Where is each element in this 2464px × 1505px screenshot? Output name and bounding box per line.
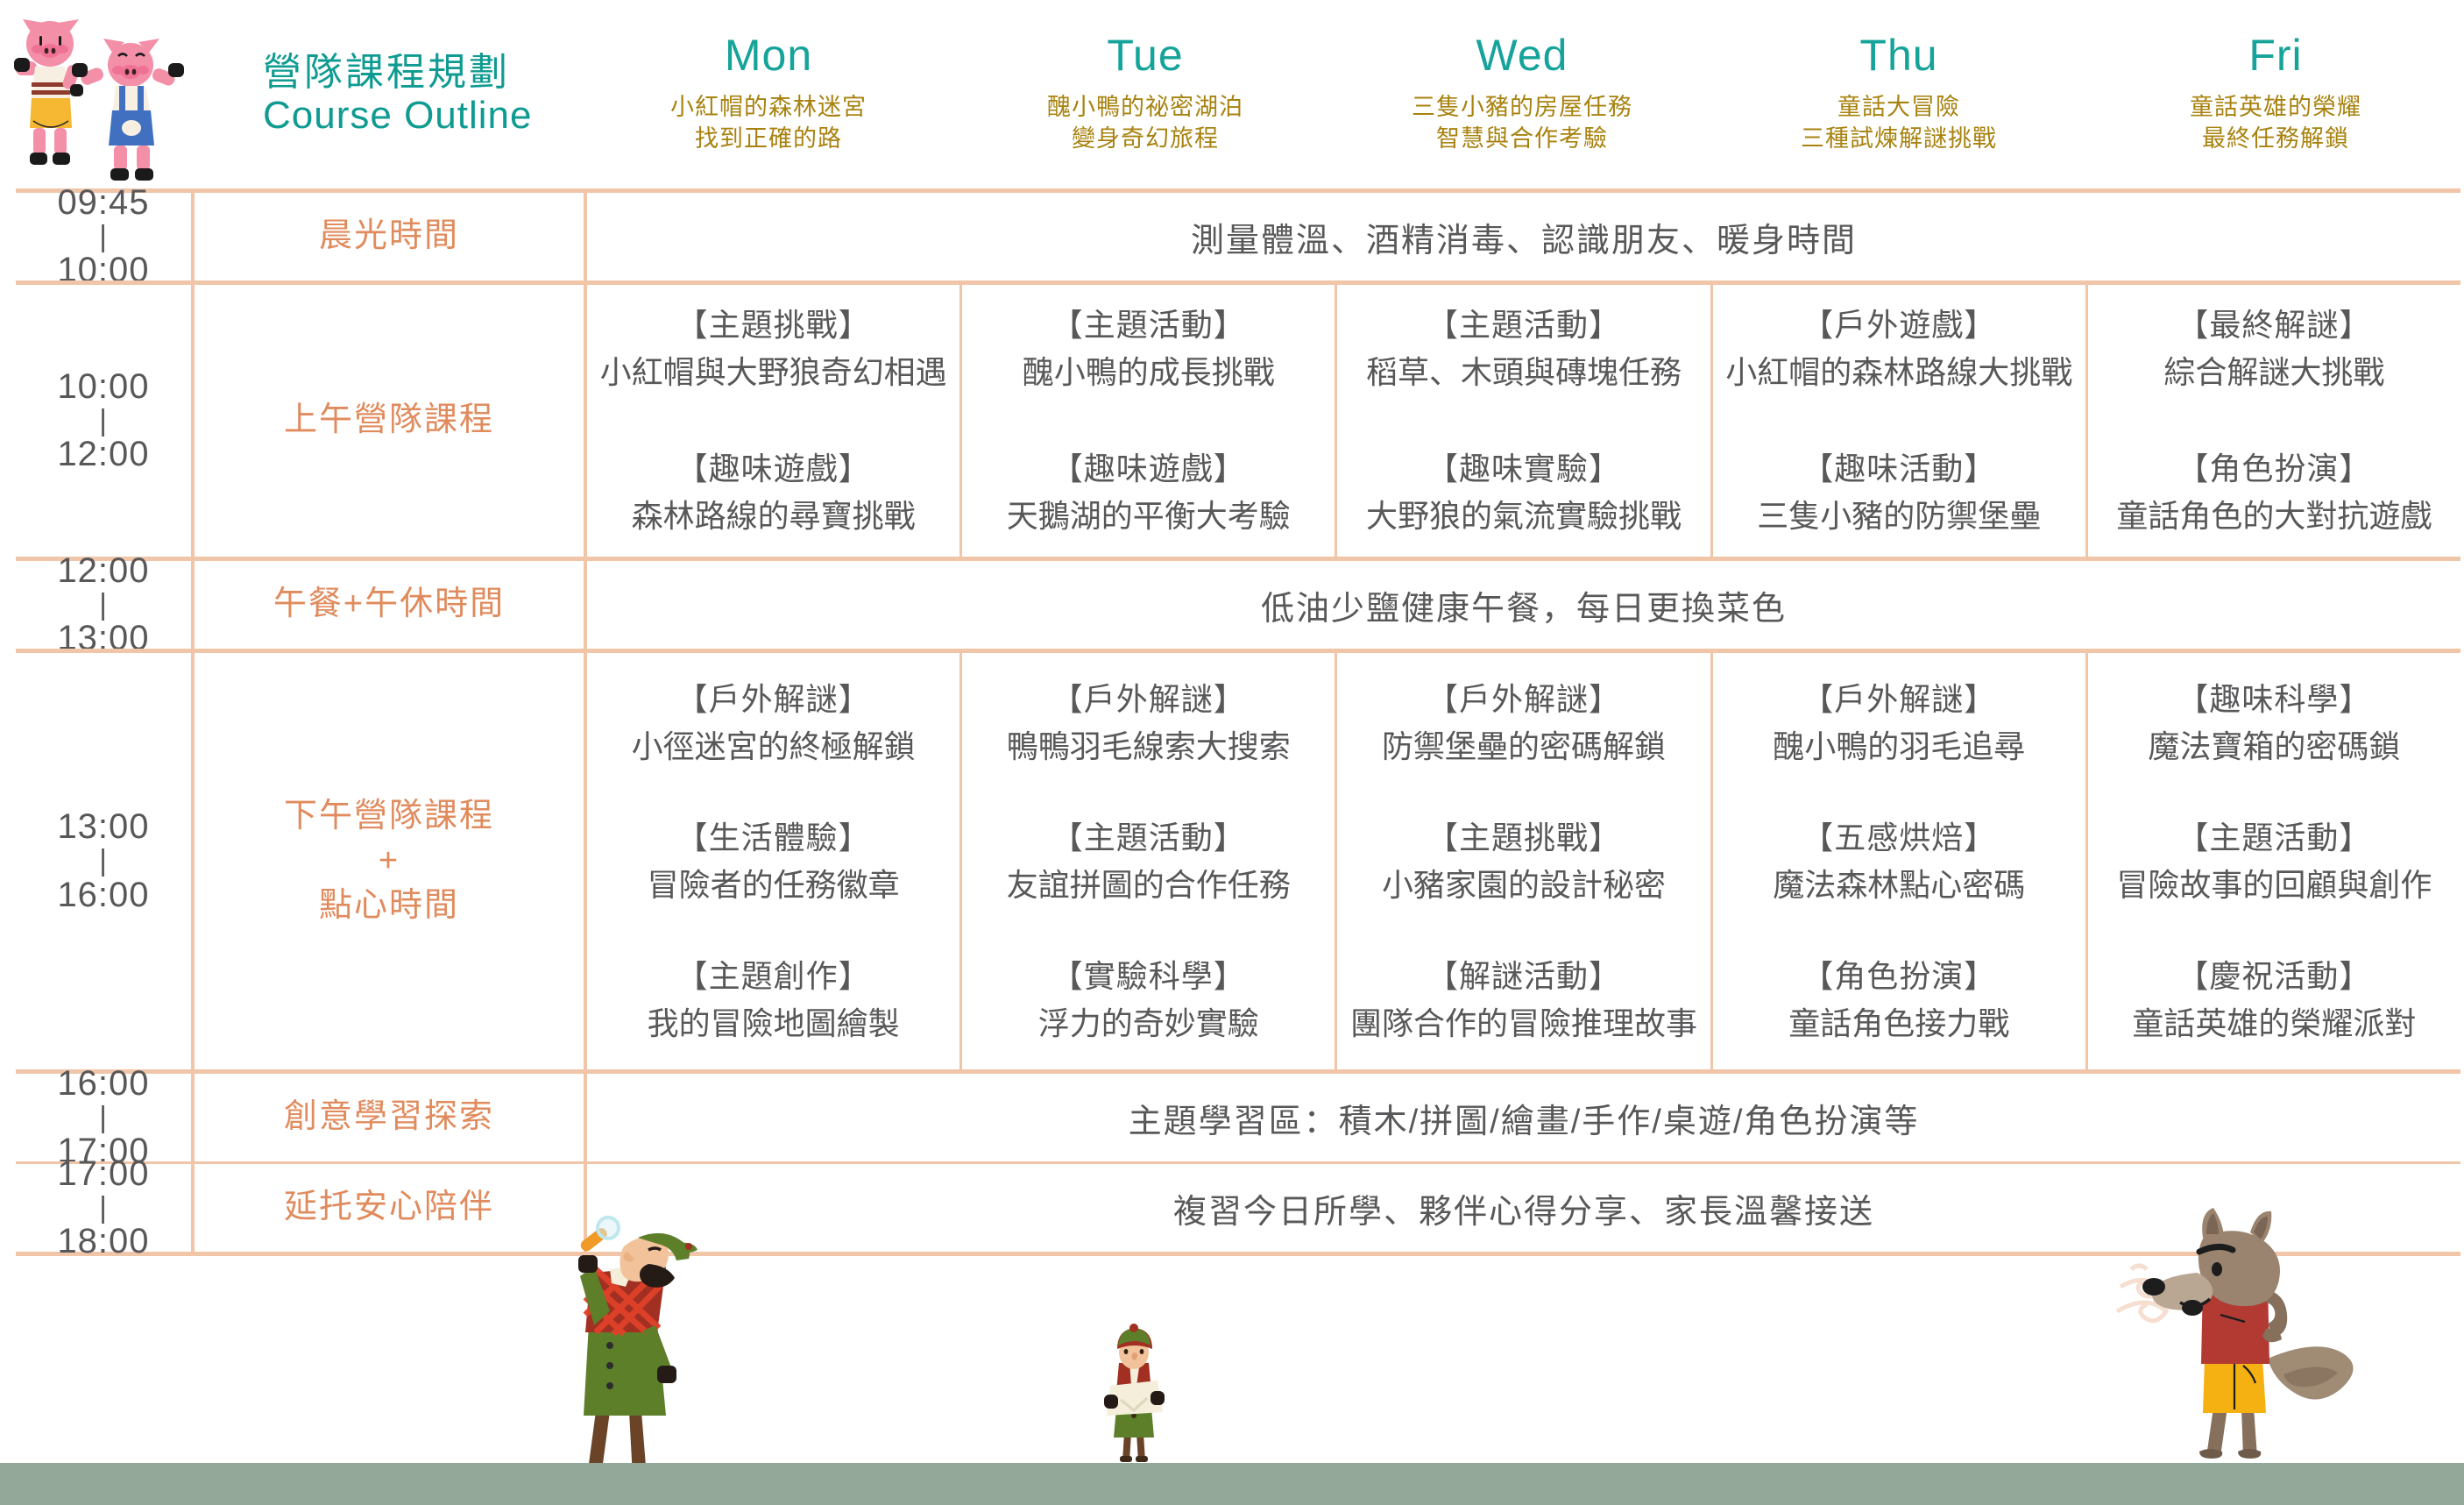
activity-text: 童話英雄的榮耀派對: [2132, 1000, 2416, 1047]
row-label-lunch: 午餐+午休時間: [191, 561, 584, 649]
activity-tag: 【戶外解謎】: [1773, 676, 2025, 723]
activity-block: 【解謎活動】 團隊合作的冒險推理故事: [1350, 953, 1697, 1047]
day-subtitle: 小紅帽的森林迷宮 找到正確的路: [670, 91, 867, 155]
day-subtitle-line1: 三隻小豬的房屋任務: [1412, 91, 1632, 123]
activity-tag: 【五感烘焙】: [1773, 814, 2025, 862]
activity-block: 【角色扮演】 童話角色的大對抗遊戲: [2116, 445, 2432, 540]
activity-tag: 【趣味活動】: [1757, 445, 2041, 493]
activity-tag: 【解謎活動】: [1350, 953, 1697, 1000]
day-subtitle: 醜小鴨的祕密湖泊 變身奇幻旅程: [1047, 91, 1243, 155]
day-subtitle: 三隻小豬的房屋任務 智慧與合作考驗: [1412, 91, 1632, 155]
activity-text: 友誼拼圖的合作任務: [1007, 862, 1291, 909]
activity-block: 【最終解謎】 綜合解謎大挑戰: [2163, 302, 2384, 396]
am-day-cells: 【主題挑戰】 小紅帽與大野狼奇幻相遇 【趣味遊戲】 森林路線的尋寶挑戰 【主題活…: [584, 285, 2460, 557]
row-span-text-creative: 主題學習區：積木/拼圖/繪畫/手作/桌遊/角色扮演等: [584, 1074, 2460, 1161]
time-dash: |: [99, 224, 108, 251]
schedule-row-am-courses: 10:00 | 12:00 上午營隊課程 【主題挑戰】 小紅帽與大野狼奇幻相遇 …: [16, 280, 2460, 557]
row-label-morning-greeting: 晨光時間: [191, 193, 584, 280]
activity-tag: 【主題活動】: [1007, 814, 1291, 862]
activity-text: 醜小鴨的成長挑戰: [1023, 349, 1275, 396]
time-end: 18:00: [57, 1221, 149, 1262]
day-subtitle: 童話大冒險 三種試煉解謎挑戰: [1801, 91, 1997, 155]
table-cell-pm-fri: 【趣味科學】 魔法寶箱的密碼鎖 【主題活動】 冒險故事的回顧與創作 【慶祝活動】…: [2088, 653, 2460, 1069]
day-header-mon: Mon 小紅帽的森林迷宮 找到正確的路: [580, 0, 957, 188]
table-cell-am-mon: 【主題挑戰】 小紅帽與大野狼奇幻相遇 【趣味遊戲】 森林路線的尋寶挑戰: [587, 285, 962, 557]
day-header-wed: Wed 三隻小豬的房屋任務 智慧與合作考驗: [1334, 0, 1710, 188]
time-start: 16:00: [57, 1063, 149, 1104]
schedule-row-pm-courses: 13:00 | 16:00 下午營隊課程 + 點心時間 【戶外解謎】 小徑迷宮的…: [16, 649, 2460, 1069]
row-label-line2: +: [284, 839, 494, 884]
time-start: 09:45: [57, 182, 149, 224]
day-subtitle-line2: 智慧與合作考驗: [1412, 123, 1632, 154]
day-name: Thu: [1859, 33, 1937, 77]
table-cell-pm-wed: 【戶外解謎】 防禦堡壘的密碼解鎖 【主題挑戰】 小豬家園的設計秘密 【解謎活動】…: [1337, 653, 1712, 1069]
day-headers: Mon 小紅帽的森林迷宮 找到正確的路 Tue 醜小鴨的祕密湖泊 變身奇幻旅程 …: [580, 0, 2464, 188]
row-label-line1: 下午營隊課程: [284, 794, 494, 839]
activity-text: 小紅帽與大野狼奇幻相遇: [600, 349, 947, 396]
time-start: 13:00: [57, 806, 149, 848]
activity-text: 童話角色的大對抗遊戲: [2116, 493, 2432, 540]
activity-text: 團隊合作的冒險推理故事: [1350, 1000, 1697, 1047]
table-cell-pm-thu: 【戶外解謎】 醜小鴨的羽毛追尋 【五感烘焙】 魔法森林點心密碼 【角色扮演】 童…: [1713, 653, 2088, 1069]
day-subtitle-line1: 童話英雄的榮耀: [2190, 91, 2361, 123]
activity-tag: 【趣味遊戲】: [1007, 445, 1291, 493]
activity-text: 小豬家園的設計秘密: [1382, 862, 1666, 909]
activity-tag: 【主題活動】: [1023, 302, 1275, 349]
activity-text: 小紅帽的森林路線大挑戰: [1725, 349, 2072, 396]
day-subtitle-line1: 童話大冒險: [1801, 91, 1997, 123]
time-cell: 16:00 | 17:00: [16, 1074, 191, 1161]
activity-block: 【趣味科學】 魔法寶箱的密碼鎖: [2148, 676, 2400, 770]
activity-tag: 【角色扮演】: [2116, 445, 2432, 493]
row-label-line3: 點心時間: [284, 884, 494, 928]
time-cell: 17:00 | 18:00: [16, 1164, 191, 1252]
activity-block: 【趣味遊戲】 森林路線的尋寶挑戰: [632, 445, 916, 540]
day-header-tue: Tue 醜小鴨的祕密湖泊 變身奇幻旅程: [957, 0, 1334, 188]
table-cell-pm-tue: 【戶外解謎】 鴨鴨羽毛線索大搜索 【主題活動】 友誼拼圖的合作任務 【實驗科學】…: [962, 653, 1337, 1069]
activity-text: 稻草、木頭與磚塊任務: [1366, 349, 1682, 396]
table-cell-am-tue: 【主題活動】 醜小鴨的成長挑戰 【趣味遊戲】 天鵝湖的平衡大考驗: [962, 285, 1337, 557]
activity-text: 我的冒險地圖繪製: [648, 1000, 900, 1047]
activity-block: 【趣味實驗】 大野狼的氣流實驗挑戰: [1366, 445, 1682, 540]
activity-tag: 【戶外解謎】: [632, 676, 916, 723]
brand-title-en: Course Outline: [263, 94, 532, 137]
time-dash: |: [99, 848, 108, 875]
activity-block: 【實驗科學】 浮力的奇妙實驗: [1038, 953, 1259, 1047]
time-cell: 10:00 | 12:00: [16, 285, 191, 557]
row-label-am-courses: 上午營隊課程: [191, 285, 584, 557]
two-pigs-illustration: [9, 7, 254, 182]
row-span-text-lunch: 低油少鹽健康午餐，每日更換菜色: [584, 561, 2460, 649]
activity-block: 【趣味遊戲】 天鵝湖的平衡大考驗: [1007, 445, 1291, 540]
activity-text: 鴨鴨羽毛線索大搜索: [1007, 723, 1291, 770]
activity-block: 【生活體驗】 冒險者的任務徽章: [648, 814, 900, 909]
activity-tag: 【趣味科學】: [2148, 676, 2400, 723]
time-dash: |: [99, 1195, 108, 1222]
activity-block: 【戶外遊戲】 小紅帽的森林路線大挑戰: [1725, 302, 2072, 396]
activity-text: 大野狼的氣流實驗挑戰: [1366, 493, 1682, 540]
activity-tag: 【實驗科學】: [1038, 953, 1259, 1000]
activity-block: 【主題活動】 友誼拼圖的合作任務: [1007, 814, 1291, 909]
time-cell: 13:00 | 16:00: [16, 653, 191, 1069]
row-label-late-care: 延托安心陪伴: [191, 1164, 584, 1252]
day-name: Mon: [725, 33, 812, 77]
activity-text: 防禦堡壘的密碼解鎖: [1382, 723, 1666, 770]
activity-block: 【主題活動】 稻草、木頭與磚塊任務: [1366, 302, 1682, 396]
activity-tag: 【主題創作】: [648, 953, 900, 1000]
schedule-row-lunch: 12:00 | 13:00 午餐+午休時間 低油少鹽健康午餐，每日更換菜色: [16, 557, 2460, 649]
brand-title-cn: 營隊課程規劃: [263, 51, 532, 94]
activity-block: 【主題創作】 我的冒險地圖繪製: [648, 953, 900, 1047]
day-subtitle-line1: 醜小鴨的祕密湖泊: [1047, 91, 1243, 123]
day-subtitle-line1: 小紅帽的森林迷宮: [670, 91, 867, 123]
activity-tag: 【生活體驗】: [648, 814, 900, 862]
activity-text: 魔法寶箱的密碼鎖: [2148, 723, 2400, 770]
activity-block: 【主題活動】 冒險故事的回顧與創作: [2116, 814, 2432, 909]
activity-tag: 【戶外解謎】: [1007, 676, 1291, 723]
activity-block: 【角色扮演】 童話角色接力戰: [1788, 953, 2009, 1047]
activity-text: 浮力的奇妙實驗: [1038, 1000, 1259, 1047]
activity-text: 魔法森林點心密碼: [1773, 862, 2025, 909]
activity-tag: 【戶外遊戲】: [1725, 302, 2072, 349]
activity-text: 森林路線的尋寶挑戰: [632, 493, 916, 540]
row-label-creative: 創意學習探索: [191, 1074, 584, 1161]
time-start: 10:00: [57, 366, 149, 408]
activity-tag: 【主題活動】: [1366, 302, 1682, 349]
activity-block: 【慶祝活動】 童話英雄的榮耀派對: [2132, 953, 2416, 1047]
activity-tag: 【角色扮演】: [1788, 953, 2009, 1000]
day-name: Tue: [1107, 33, 1183, 77]
time-dash: |: [99, 592, 108, 619]
activity-text: 醜小鴨的羽毛追尋: [1773, 723, 2025, 770]
day-subtitle: 童話英雄的榮耀 最終任務解鎖: [2190, 91, 2361, 155]
big-bad-wolf-illustration: [2112, 1227, 2383, 1481]
schedule-row-late-care: 17:00 | 18:00 延托安心陪伴 複習今日所學、夥伴心得分享、家長溫馨接…: [16, 1161, 2460, 1256]
time-cell: 12:00 | 13:00: [16, 561, 191, 649]
time-dash: |: [99, 408, 108, 435]
activity-tag: 【趣味遊戲】: [632, 445, 916, 493]
brand-title: 營隊課程規劃 Course Outline: [263, 51, 532, 138]
time-start: 17:00: [57, 1154, 149, 1195]
time-end: 16:00: [57, 875, 149, 916]
activity-text: 童話角色接力戰: [1788, 1000, 2009, 1047]
day-name: Fri: [2248, 33, 2302, 77]
activity-tag: 【慶祝活動】: [2132, 953, 2416, 1000]
table-cell-am-fri: 【最終解謎】 綜合解謎大挑戰 【角色扮演】 童話角色的大對抗遊戲: [2088, 285, 2460, 557]
day-header-thu: Thu 童話大冒險 三種試煉解謎挑戰: [1710, 0, 2087, 188]
activity-text: 冒險者的任務徽章: [648, 862, 900, 909]
schedule-grid: 09:45 | 10:00 晨光時間 測量體溫、酒精消毒、認識朋友、暖身時間 1…: [16, 188, 2460, 1256]
day-subtitle-line2: 變身奇幻旅程: [1047, 123, 1243, 154]
row-label-pm-courses: 下午營隊課程 + 點心時間: [191, 653, 584, 1069]
activity-text: 三隻小豬的防禦堡壘: [1757, 493, 2041, 540]
schedule-row-creative: 16:00 | 17:00 創意學習探索 主題學習區：積木/拼圖/繪畫/手作/桌…: [16, 1069, 2460, 1161]
pm-day-cells: 【戶外解謎】 小徑迷宮的終極解鎖 【生活體驗】 冒險者的任務徽章 【主題創作】 …: [584, 653, 2460, 1069]
activity-tag: 【主題活動】: [2116, 814, 2432, 862]
time-start: 12:00: [57, 550, 149, 592]
day-subtitle-line2: 三種試煉解謎挑戰: [1801, 123, 1997, 154]
time-dash: |: [99, 1104, 108, 1132]
day-header-fri: Fri 童話英雄的榮耀 最終任務解鎖: [2087, 0, 2464, 188]
activity-block: 【主題活動】 醜小鴨的成長挑戰: [1023, 302, 1275, 396]
time-cell: 09:45 | 10:00: [16, 193, 191, 280]
activity-tag: 【主題挑戰】: [600, 302, 947, 349]
activity-block: 【趣味活動】 三隻小豬的防禦堡壘: [1757, 445, 2041, 540]
activity-block: 【戶外解謎】 醜小鴨的羽毛追尋: [1773, 676, 2025, 770]
table-cell-am-thu: 【戶外遊戲】 小紅帽的森林路線大挑戰 【趣味活動】 三隻小豬的防禦堡壘: [1713, 285, 2088, 557]
row-span-text-morning-greeting: 測量體溫、酒精消毒、認識朋友、暖身時間: [584, 193, 2460, 280]
day-subtitle-line2: 找到正確的路: [670, 123, 867, 154]
activity-text: 小徑迷宮的終極解鎖: [632, 723, 916, 770]
table-cell-pm-mon: 【戶外解謎】 小徑迷宮的終極解鎖 【生活體驗】 冒險者的任務徽章 【主題創作】 …: [587, 653, 962, 1069]
activity-tag: 【最終解謎】: [2163, 302, 2384, 349]
activity-text: 綜合解謎大挑戰: [2163, 349, 2384, 396]
activity-block: 【主題挑戰】 小紅帽與大野狼奇幻相遇: [600, 302, 947, 396]
footer-color-bar: [0, 1463, 2464, 1505]
activity-block: 【戶外解謎】 小徑迷宮的終極解鎖: [632, 676, 916, 770]
activity-tag: 【戶外解謎】: [1382, 676, 1666, 723]
schedule-row-morning-greeting: 09:45 | 10:00 晨光時間 測量體溫、酒精消毒、認識朋友、暖身時間: [16, 188, 2460, 280]
activity-tag: 【主題挑戰】: [1382, 814, 1666, 862]
activity-block: 【主題挑戰】 小豬家園的設計秘密: [1382, 814, 1666, 909]
activity-block: 【戶外解謎】 防禦堡壘的密碼解鎖: [1382, 676, 1666, 770]
activity-tag: 【趣味實驗】: [1366, 445, 1682, 493]
table-cell-am-wed: 【主題活動】 稻草、木頭與磚塊任務 【趣味實驗】 大野狼的氣流實驗挑戰: [1337, 285, 1712, 557]
day-name: Wed: [1476, 33, 1568, 77]
woodsman-illustration: [526, 1192, 754, 1481]
activity-text: 冒險故事的回顧與創作: [2116, 862, 2432, 909]
time-end: 12:00: [57, 434, 149, 475]
little-red-riding-hood-illustration: [1091, 1310, 1170, 1464]
activity-text: 天鵝湖的平衡大考驗: [1007, 493, 1291, 540]
page-header: 營隊課程規劃 Course Outline Mon 小紅帽的森林迷宮 找到正確的…: [0, 0, 2464, 188]
activity-block: 【五感烘焙】 魔法森林點心密碼: [1773, 814, 2025, 909]
activity-block: 【戶外解謎】 鴨鴨羽毛線索大搜索: [1007, 676, 1291, 770]
day-subtitle-line2: 最終任務解鎖: [2190, 123, 2361, 154]
